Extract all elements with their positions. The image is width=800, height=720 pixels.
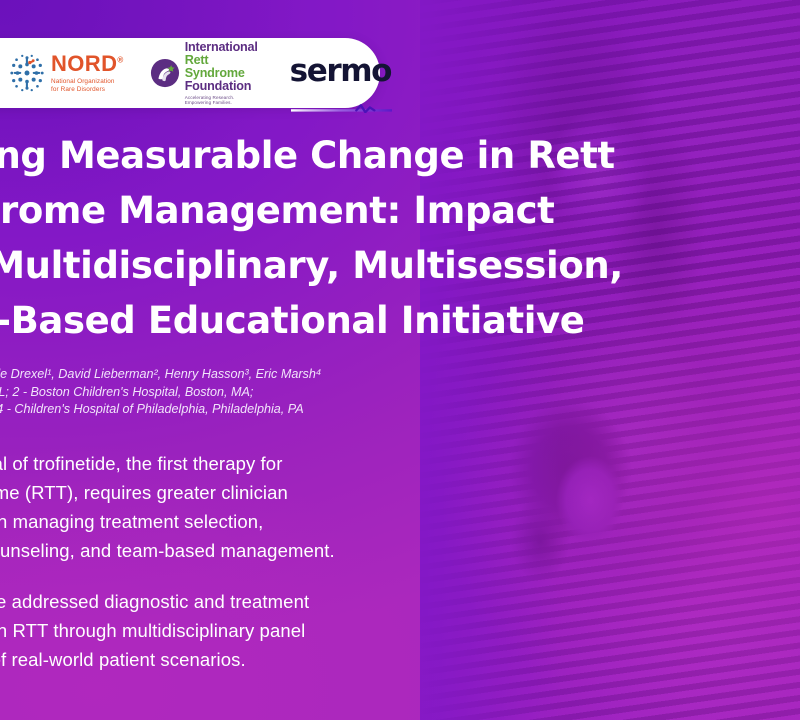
nord-subtitle-line2: for Rare Disorders <box>51 86 124 94</box>
nord-burst-icon <box>8 52 46 94</box>
poster-slide: NORD® National Organization for Rare Dis… <box>0 0 800 720</box>
paragraph-2-line-1: This initiative addressed diagnostic and… <box>0 587 588 616</box>
title-line-1: Driving Measurable Change in Rett <box>0 128 588 183</box>
paragraph-2-line-3: discussion of real-world patient scenari… <box>0 645 588 674</box>
nord-registered-mark: ® <box>117 55 123 64</box>
irsf-tagline: Accelerating Research. Empowering Famili… <box>185 95 258 105</box>
paragraph-1-line-2: Rett syndrome (RTT), requires greater cl… <box>0 478 588 507</box>
paragraph-1-line-1: The approval of trofinetide, the first t… <box>0 449 588 478</box>
paragraph-1-line-3: proficiency in managing treatment select… <box>0 507 588 536</box>
nord-subtitle-line1: National Organization <box>51 78 124 86</box>
logo-nord[interactable]: NORD® National Organization for Rare Dis… <box>8 38 124 108</box>
irsf-line-rett-syndrome: Rett Syndrome <box>185 54 258 80</box>
paragraph-background: The approval of trofinetide, the first t… <box>0 449 588 565</box>
logo-irsf[interactable]: International Rett Syndrome Foundation A… <box>150 38 258 108</box>
body-text: The approval of trofinetide, the first t… <box>0 449 588 674</box>
title-line-3: of a Multidisciplinary, Multisession, <box>0 238 588 293</box>
authors-line: Alan Percy¹, Carole Drexel¹, David Liebe… <box>0 366 588 384</box>
title-line-4: Case-Based Educational Initiative <box>0 293 588 348</box>
irsf-hands-icon <box>150 58 180 88</box>
nord-name: NORD® <box>51 53 124 75</box>
irsf-line-foundation: Foundation <box>185 80 258 93</box>
nord-wordmark: NORD® National Organization for Rare Dis… <box>51 53 124 94</box>
irsf-line-international: International <box>185 41 258 54</box>
sermo-name: sermo <box>290 56 391 87</box>
paragraph-1-line-4: caregiver counseling, and team-based man… <box>0 536 588 565</box>
affiliation-line-2: 3 - Brooklyn, NY; 4 - Children's Hospita… <box>0 401 588 419</box>
logo-bar: NORD® National Organization for Rare Dis… <box>0 38 380 108</box>
irsf-wordmark: International Rett Syndrome Foundation A… <box>185 41 258 105</box>
title-line-2: Syndrome Management: Impact <box>0 183 588 238</box>
logo-sermo[interactable]: sermo <box>290 36 391 110</box>
nord-subtitle: National Organization for Rare Disorders <box>51 78 124 94</box>
paragraph-objective: This initiative addressed diagnostic and… <box>0 587 588 674</box>
paragraph-2-line-2: challenges in RTT through multidisciplin… <box>0 616 588 645</box>
authors-and-affiliations: Alan Percy¹, Carole Drexel¹, David Liebe… <box>0 366 588 419</box>
sermo-pulse-underline-icon <box>291 104 392 113</box>
affiliation-line-1: 1 - Birmingham, AL; 2 - Boston Children'… <box>0 384 588 402</box>
